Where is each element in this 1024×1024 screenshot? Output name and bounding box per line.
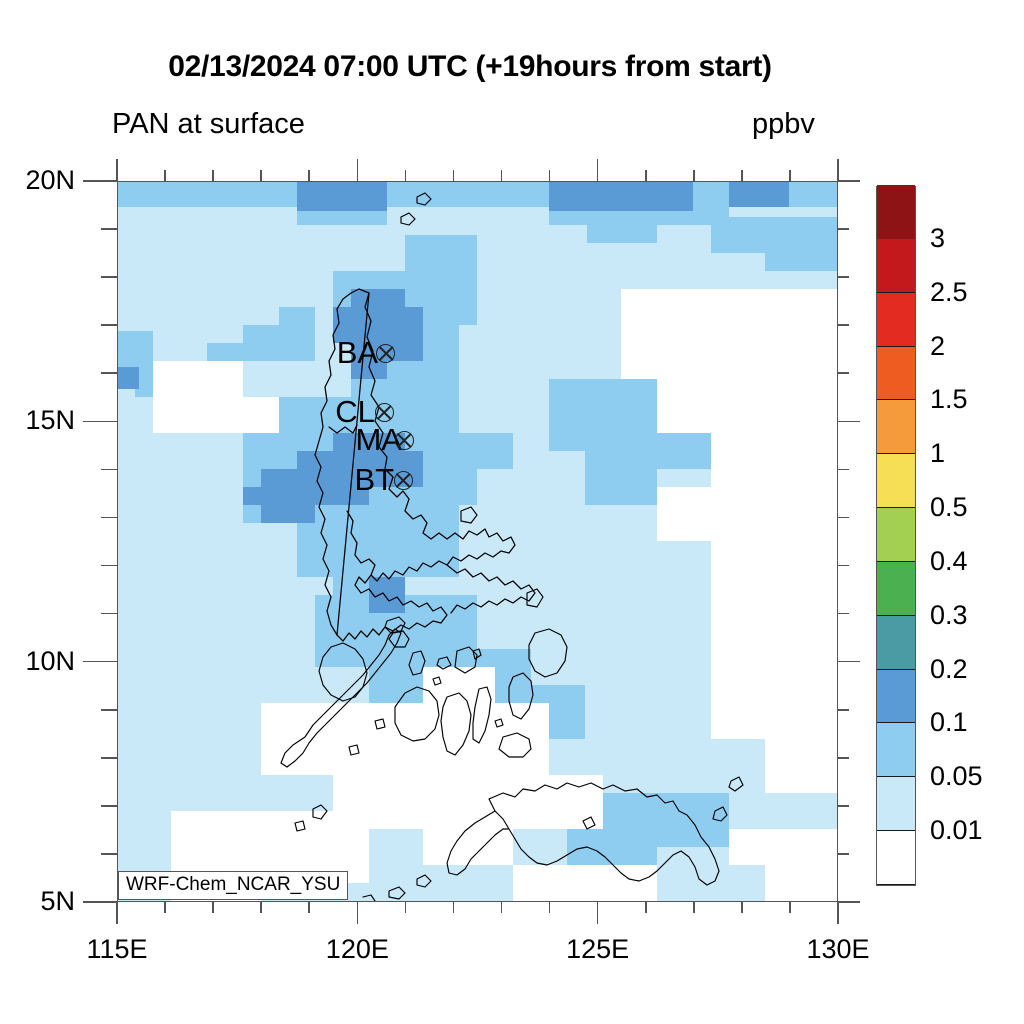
xtick-top-128 — [741, 170, 743, 181]
xtick-top-129 — [789, 170, 791, 181]
ytick-19 — [101, 228, 117, 230]
xtick-top-124 — [549, 170, 551, 181]
colorbar-tick-2: 2 — [930, 331, 945, 362]
colorbar-band-0.1-0.2 — [877, 670, 915, 724]
yaxis-label-20N: 20N — [0, 165, 75, 196]
xtick-top-125 — [597, 159, 599, 181]
xtick-top-119 — [308, 170, 310, 181]
xtick-130 — [837, 902, 839, 924]
colorbar-band-1-1.5 — [877, 400, 915, 454]
colorbar-band-< 0.01 — [877, 831, 915, 885]
ytick-5 — [83, 901, 117, 903]
xaxis-label-120E: 120E — [287, 934, 427, 965]
ytick-16 — [101, 372, 117, 374]
ytick-17 — [101, 324, 117, 326]
colorbar-tick-0.3: 0.3 — [930, 600, 968, 631]
ytick-15 — [83, 421, 117, 423]
colorbar-band-0.01-0.05 — [877, 777, 915, 831]
ytick-11 — [101, 613, 117, 615]
ytick-18 — [101, 276, 117, 278]
yaxis-label-10N: 10N — [0, 646, 75, 677]
colorbar[interactable] — [876, 186, 916, 886]
ytick-right-17 — [838, 324, 849, 326]
map-plot-area: BA CL MA BT — [117, 181, 838, 902]
xtick-129 — [789, 902, 791, 913]
xtick-125 — [597, 902, 599, 924]
figure-canvas: 02/13/2024 07:00 UTC (+19hours from star… — [0, 0, 1024, 1024]
ytick-8 — [101, 757, 117, 759]
xtick-top-123 — [501, 170, 503, 181]
ytick-20 — [83, 180, 117, 182]
colorbar-band-2-2.5 — [877, 293, 915, 347]
xtick-top-116 — [164, 170, 166, 181]
xtick-127 — [693, 902, 695, 913]
ytick-right-16 — [838, 372, 849, 374]
colorbar-tick-0.01: 0.01 — [930, 815, 983, 846]
units-label: ppbv — [752, 108, 815, 141]
xaxis-label-125E: 125E — [528, 934, 668, 965]
ytick-7 — [101, 805, 117, 807]
xtick-126 — [645, 902, 647, 913]
xtick-123 — [501, 902, 503, 913]
xtick-116 — [164, 902, 166, 913]
xtick-top-122 — [453, 170, 455, 181]
colorbar-tick-2.5: 2.5 — [930, 277, 968, 308]
colorbar-band-0.5-1 — [877, 454, 915, 508]
colorbar-tick-1: 1 — [930, 438, 945, 469]
ytick-right-20 — [838, 180, 860, 182]
colorbar-tick-0.4: 0.4 — [930, 546, 968, 577]
ytick-9 — [101, 709, 117, 711]
xtick-top-130 — [837, 159, 839, 181]
xtick-top-117 — [212, 170, 214, 181]
ytick-right-5 — [838, 901, 860, 903]
colorbar-tick-0.05: 0.05 — [930, 761, 983, 792]
xaxis-label-115E: 115E — [47, 934, 187, 965]
colorbar-band-> 3 — [877, 185, 915, 239]
ytick-right-14 — [838, 469, 849, 471]
ytick-right-19 — [838, 228, 849, 230]
xtick-124 — [549, 902, 551, 913]
xtick-top-126 — [645, 170, 647, 181]
colorbar-tick-0.2: 0.2 — [930, 654, 968, 685]
station-marker-BA[interactable] — [376, 344, 395, 363]
colorbar-tick-0.5: 0.5 — [930, 492, 968, 523]
yaxis-label-5N: 5N — [0, 886, 75, 917]
variable-label: PAN at surface — [112, 108, 305, 141]
xtick-top-127 — [693, 170, 695, 181]
ytick-right-9 — [838, 709, 849, 711]
ytick-right-7 — [838, 805, 849, 807]
xtick-122 — [453, 902, 455, 913]
station-marker-CL[interactable] — [375, 403, 394, 422]
coastline-overlay — [117, 181, 838, 902]
xtick-121 — [405, 902, 407, 913]
ytick-right-13 — [838, 517, 849, 519]
station-label-BT: BT — [354, 464, 394, 495]
ytick-12 — [101, 565, 117, 567]
ytick-13 — [101, 517, 117, 519]
colorbar-band-0.2-0.3 — [877, 616, 915, 670]
xtick-118 — [260, 902, 262, 913]
xtick-128 — [741, 902, 743, 913]
xtick-119 — [308, 902, 310, 913]
yaxis-label-15N: 15N — [0, 405, 75, 436]
colorbar-tick-0.1: 0.1 — [930, 707, 968, 738]
colorbar-band-0.3-0.4 — [877, 562, 915, 616]
xaxis-label-130E: 130E — [768, 934, 908, 965]
ytick-right-11 — [838, 613, 849, 615]
station-label-BA: BA — [337, 337, 378, 368]
colorbar-band-2.5-3 — [877, 239, 915, 293]
ytick-10 — [83, 661, 117, 663]
xtick-top-120 — [357, 159, 359, 181]
xtick-115 — [116, 902, 118, 924]
colorbar-band-0.05-0.1 — [877, 723, 915, 777]
ytick-right-18 — [838, 276, 849, 278]
ytick-right-10 — [838, 661, 860, 663]
ytick-right-12 — [838, 565, 849, 567]
model-tag: WRF-Chem_NCAR_YSU — [118, 871, 348, 900]
xtick-top-118 — [260, 170, 262, 181]
colorbar-tick-1.5: 1.5 — [930, 384, 968, 415]
ytick-6 — [101, 853, 117, 855]
xtick-top-115 — [116, 159, 118, 181]
xtick-117 — [212, 902, 214, 913]
colorbar-band-1.5-2 — [877, 347, 915, 401]
ytick-right-15 — [838, 421, 860, 423]
ytick-14 — [101, 469, 117, 471]
xtick-120 — [357, 902, 359, 924]
station-marker-MA[interactable] — [395, 431, 414, 450]
ytick-right-6 — [838, 853, 849, 855]
colorbar-band-0.4-0.5 — [877, 508, 915, 562]
xtick-top-121 — [405, 170, 407, 181]
ytick-right-8 — [838, 757, 849, 759]
figure-title: 02/13/2024 07:00 UTC (+19hours from star… — [0, 50, 940, 84]
colorbar-tick-3: 3 — [930, 223, 945, 254]
